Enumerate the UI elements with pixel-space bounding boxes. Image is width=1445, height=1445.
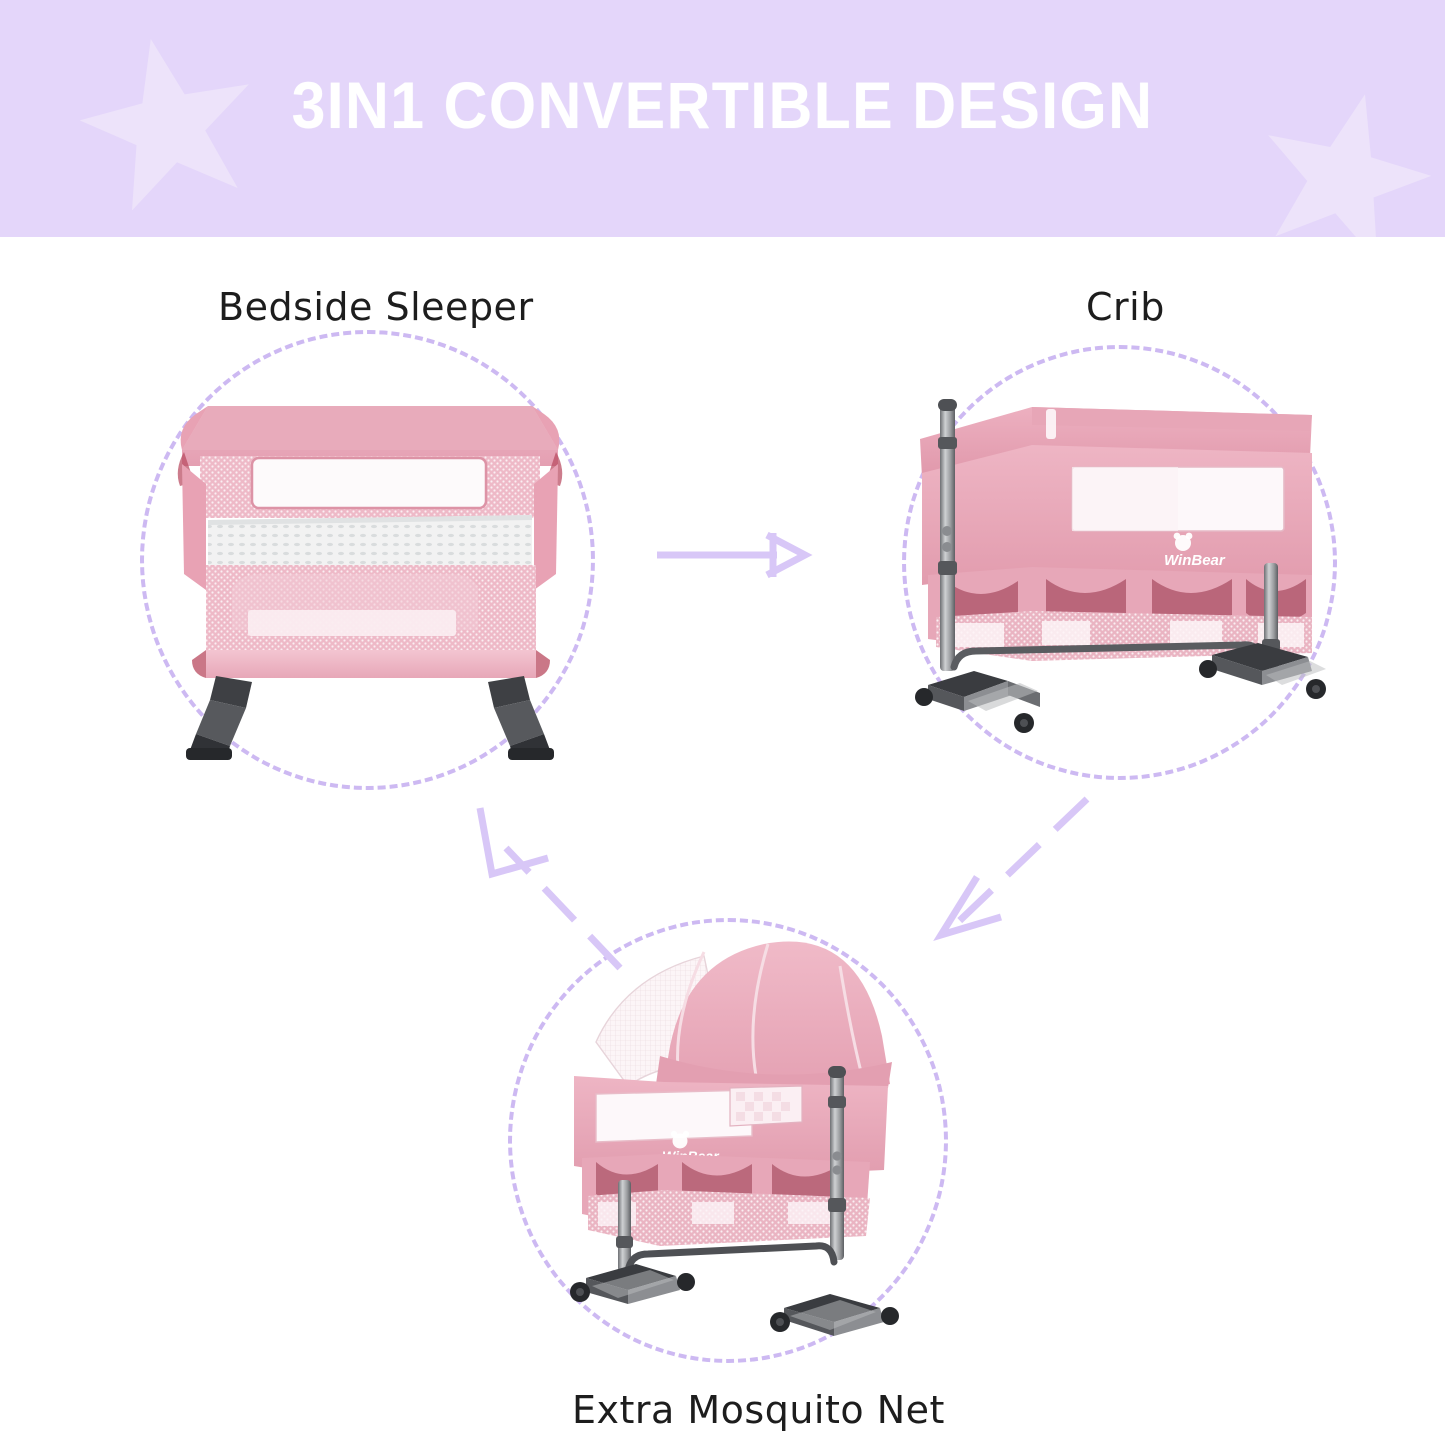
crib-brand-text: WinBear	[1164, 552, 1226, 569]
crib-left-pole	[938, 399, 957, 671]
panel-label-crib: Crib	[1086, 285, 1165, 329]
arrow-bedside-to-crib	[655, 525, 815, 585]
page-title: 3IN1 CONVERTIBLE DESIGN	[58, 72, 1387, 138]
sleeper-right-post	[534, 464, 558, 590]
product-image-bedside-sleeper	[160, 360, 580, 760]
crib-left-base	[915, 671, 1040, 733]
header-banner: 3IN1 CONVERTIBLE DESIGN	[0, 0, 1445, 237]
net-right-base	[770, 1294, 899, 1336]
net-right-pole	[828, 1066, 846, 1260]
sleeper-front-window	[248, 610, 456, 636]
arrow-crib-to-net	[915, 795, 1095, 955]
sleeper-bottom-skirt	[206, 650, 536, 678]
net-cross-bar	[628, 1246, 834, 1272]
product-image-extra-mosquito-net: WinBear	[540, 930, 940, 1360]
sleeper-window-panel	[252, 458, 486, 508]
sleeper-left-post	[182, 464, 206, 590]
sleeper-right-leg	[488, 676, 554, 760]
infographic-page: 3IN1 CONVERTIBLE DESIGN Bedside Sleeper …	[0, 0, 1445, 1445]
panel-label-extra-mosquito-net: Extra Mosquito Net	[572, 1388, 945, 1432]
crib-top-strap	[1046, 409, 1056, 439]
product-image-crib: WinBear	[912, 385, 1332, 755]
sleeper-left-leg	[186, 676, 252, 760]
panel-label-bedside-sleeper: Bedside Sleeper	[218, 285, 534, 329]
net-left-base	[570, 1264, 695, 1304]
